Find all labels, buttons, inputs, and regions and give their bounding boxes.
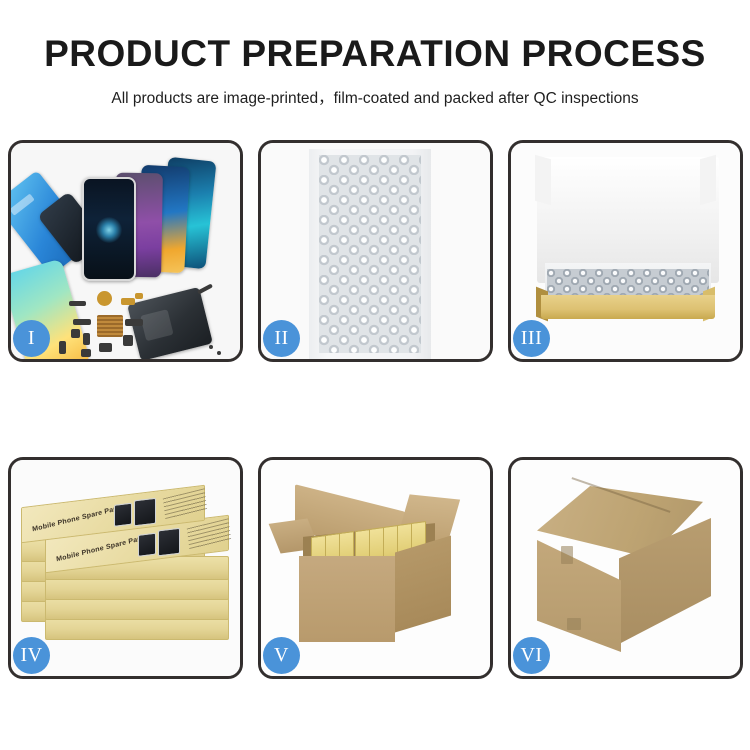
part-vibrator xyxy=(99,343,112,352)
step-badge-5: V xyxy=(263,637,300,674)
inner-box-lid-flap-left xyxy=(535,155,551,206)
step-badge-2: II xyxy=(263,320,300,357)
process-steps-grid: I II III xyxy=(8,140,742,679)
sealed-carton-tape-lower xyxy=(567,618,581,630)
part-flex-cable-b xyxy=(125,319,143,326)
page-title: PRODUCT PREPARATION PROCESS xyxy=(0,0,750,75)
step-badge-4: IV xyxy=(13,637,50,674)
sealed-carton-front-face xyxy=(537,540,621,652)
part-camera-module xyxy=(123,335,133,346)
step-badge-6: VI xyxy=(513,637,550,674)
part-button-b xyxy=(83,333,90,345)
part-connector-strip xyxy=(69,301,86,306)
part-speaker xyxy=(81,349,91,357)
phone-screen-front-glass xyxy=(82,177,136,281)
box-art-screen-d xyxy=(134,498,156,527)
step-badge-1: I xyxy=(13,320,50,357)
sealed-carton-tape-upper xyxy=(561,546,573,564)
carton-side-face xyxy=(395,535,451,632)
box-art-screen-c xyxy=(114,503,132,527)
part-speaker-coil xyxy=(97,291,112,306)
part-tweezers xyxy=(197,283,213,294)
box-stack: Mobile Phone Spare Parts Mobile Phone Sp… xyxy=(17,478,235,668)
part-screw-a xyxy=(209,345,213,349)
part-flex-cable-a xyxy=(73,319,91,325)
step-badge-3: III xyxy=(513,320,550,357)
bubble-wrap-texture xyxy=(319,155,421,353)
part-gold-flex xyxy=(121,298,135,305)
carton-front-face xyxy=(299,556,395,642)
step-panel-2[interactable]: II xyxy=(258,140,493,362)
part-screw-b xyxy=(217,351,221,355)
part-sim-tray xyxy=(59,341,66,354)
inner-box-bubble-wrap xyxy=(547,269,709,297)
page-header: PRODUCT PREPARATION PROCESS All products… xyxy=(0,0,750,108)
box-art-screen-a xyxy=(138,533,156,557)
part-screw-tray xyxy=(97,315,123,337)
page-subtitle: All products are image-printed，film-coat… xyxy=(0,75,750,108)
box-art-screen-b xyxy=(158,528,180,557)
inner-box-lid-flap-right xyxy=(700,155,716,206)
step-panel-3[interactable]: III xyxy=(508,140,743,362)
step-panel-6[interactable]: VI xyxy=(508,457,743,679)
step-panel-1[interactable]: I xyxy=(8,140,243,362)
inner-box-base xyxy=(541,295,715,319)
part-button-a xyxy=(71,329,80,338)
part-gold-bracket xyxy=(135,293,143,299)
step-panel-4[interactable]: Mobile Phone Spare Parts Mobile Phone Sp… xyxy=(8,457,243,679)
step-panel-5[interactable]: V xyxy=(258,457,493,679)
